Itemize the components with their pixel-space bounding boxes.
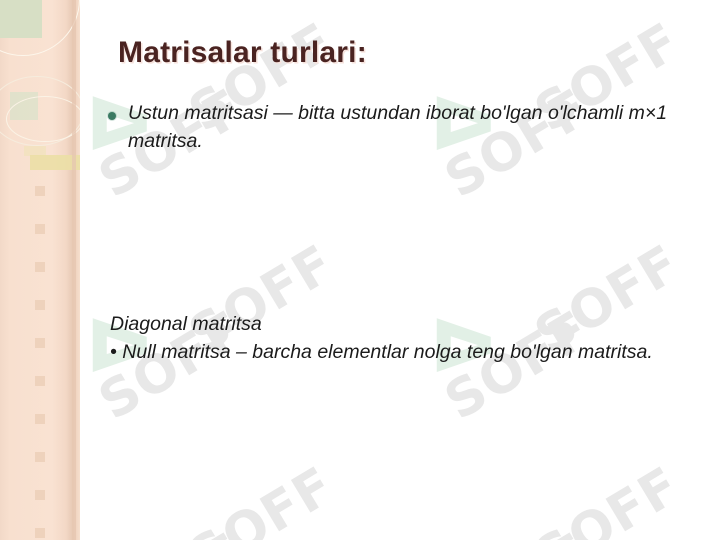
sidebar-square xyxy=(35,376,45,386)
watermark-text: SOFF xyxy=(525,456,690,540)
paragraph-block: Diagonal matritsa • Null matritsa – barc… xyxy=(110,310,690,367)
sidebar-square xyxy=(35,224,45,234)
slide-title: Matrisalar turlari: xyxy=(118,36,367,70)
decorative-sidebar xyxy=(0,0,80,540)
watermark-text: SOFF xyxy=(435,522,600,540)
sidebar-edge-stripe xyxy=(72,0,76,540)
sidebar-square xyxy=(35,186,45,196)
sidebar-square xyxy=(35,262,45,272)
watermark-text: SOFF xyxy=(89,522,254,540)
watermark-text: SOFF xyxy=(179,456,344,540)
bullet-list: Ustun matritsasi — bitta ustundan iborat… xyxy=(108,100,668,155)
sidebar-square xyxy=(35,414,45,424)
paragraph-line: • Null matritsa – barcha elementlar nolg… xyxy=(110,338,690,366)
paragraph-line: Diagonal matritsa xyxy=(110,310,690,338)
bullet-item-text: Ustun matritsasi — bitta ustundan iborat… xyxy=(128,100,668,155)
sidebar-square xyxy=(35,452,45,462)
sidebar-square xyxy=(35,300,45,310)
list-item: Ustun matritsasi — bitta ustundan iborat… xyxy=(108,100,668,155)
watermark-layer: ᐅ SOFF SOFF ᐅ SOFF SOFF ᐅ SOFF SOFF ᐅ SO… xyxy=(0,0,720,540)
presentation-slide: ᐅ SOFF SOFF ᐅ SOFF SOFF ᐅ SOFF SOFF ᐅ SO… xyxy=(0,0,720,540)
sidebar-square xyxy=(35,528,45,538)
sidebar-square xyxy=(35,490,45,500)
sidebar-arc-inner xyxy=(6,96,80,142)
bullet-disc-icon xyxy=(108,112,116,120)
sidebar-square xyxy=(35,338,45,348)
